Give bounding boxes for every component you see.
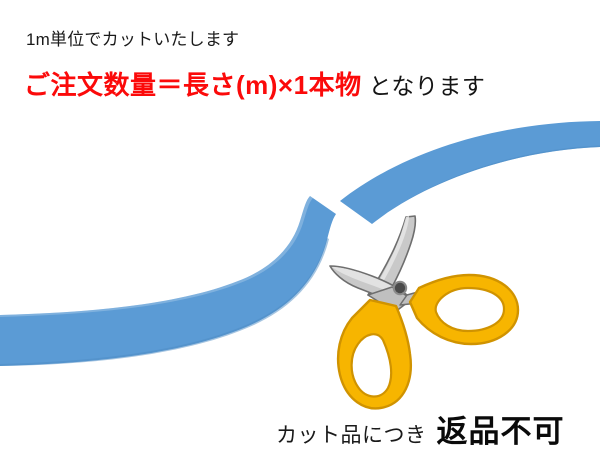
no-return-highlight: 返品不可 <box>427 414 565 449</box>
order-quantity-notice: ご注文数量＝長さ(m)×1本物となります <box>24 68 485 103</box>
cut-unit-notice: 1m単位でカットいたします <box>26 29 239 51</box>
blue-cable-upper-segment <box>340 121 600 224</box>
scissors-handle-right <box>410 275 518 344</box>
order-quantity-tail: となります <box>362 73 486 99</box>
blue-cable-lower-segment <box>0 196 336 366</box>
notice-graphic: 1m単位でカットいたします ご注文数量＝長さ(m)×1本物となります カット品に… <box>0 0 600 466</box>
scissors-handle-lower <box>338 300 411 408</box>
scissors <box>330 216 518 408</box>
order-quantity-emphasis: ご注文数量＝長さ(m)×1本物 <box>24 70 362 100</box>
no-return-prefix: カット品につき <box>276 424 427 447</box>
scissors-pivot <box>393 281 407 295</box>
no-return-notice: カット品につき返品不可 <box>276 412 565 458</box>
